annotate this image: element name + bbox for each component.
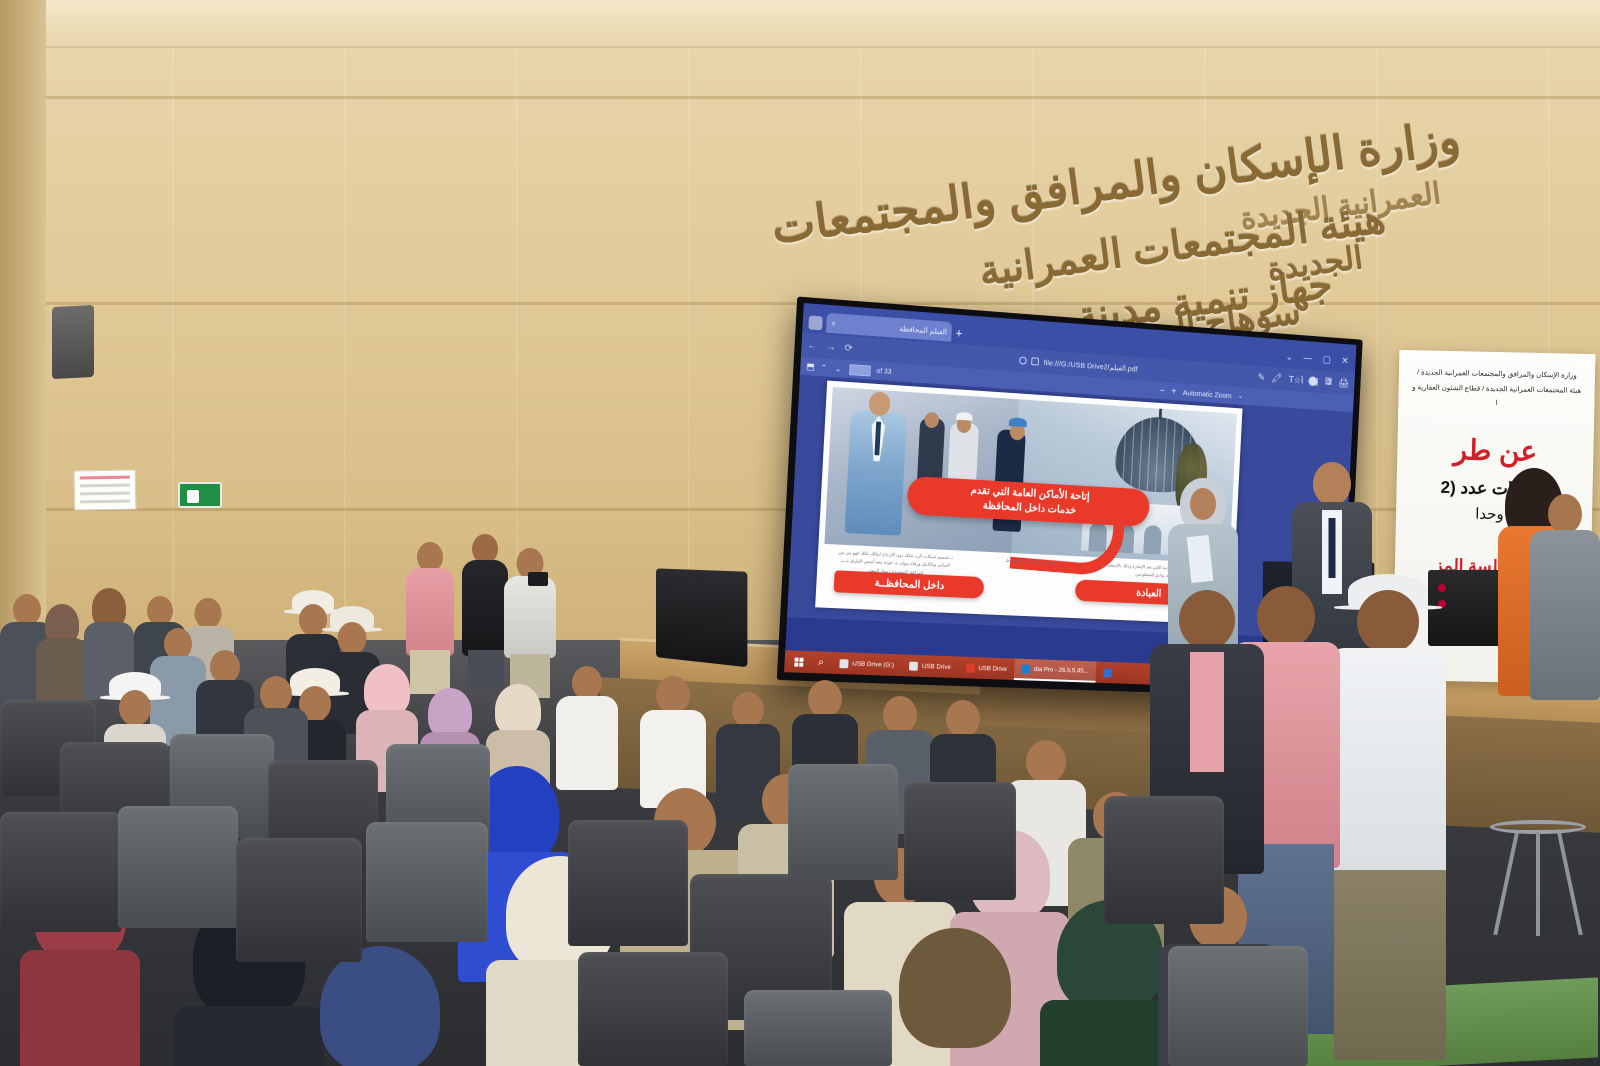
chevron-down-icon[interactable]: ⌄ (1238, 392, 1244, 400)
forward-button[interactable]: → (826, 341, 836, 353)
ceiling (0, 0, 1600, 48)
banner-header: وزارة الإسكان والمرافق والمجتمعات العمرا… (1410, 366, 1583, 414)
taskbar-item[interactable]: USB Drive (G:) (831, 652, 902, 676)
caption-column-left: تـ تصميم شبكات الربـ تبكك دون الإزعاج لم… (831, 548, 957, 603)
caption-text-left: تـ تصميم شبكات الربـ تبكك دون الإزعاج لم… (833, 548, 958, 579)
folder-icon (966, 663, 975, 672)
close-button[interactable]: ✕ (1341, 356, 1349, 367)
app-icon (1022, 664, 1031, 673)
page-total-label: of 33 (876, 368, 891, 376)
auditorium-scene: وزارة الإسكان والمرافق والمجتمعات العمرا… (0, 0, 1600, 1066)
man-with-camera (504, 548, 556, 698)
zoom-in-button[interactable]: + (1171, 386, 1177, 397)
folder-icon (839, 659, 848, 668)
taskbar-item-label: USB Drive (978, 665, 1007, 673)
new-tab-button[interactable]: + (955, 327, 963, 339)
sidebar-toggle-icon[interactable]: ⬒ (806, 361, 815, 373)
zoom-out-button[interactable]: − (1159, 385, 1165, 396)
exit-sign-icon (178, 482, 222, 508)
audience-member (640, 676, 706, 804)
taskbar-item-label: USB Drive (G:) (852, 660, 894, 668)
search-icon[interactable]: ⌕ (810, 656, 832, 670)
seat (904, 782, 1016, 900)
man-grey-suit-far-right (1530, 494, 1600, 694)
start-button[interactable] (786, 657, 810, 667)
seat (366, 822, 488, 942)
edge-icon (1103, 668, 1112, 677)
taskbar-item[interactable]: USB Drive (901, 654, 959, 678)
tab-actions-chevron-icon[interactable]: ⌄ (1285, 352, 1293, 363)
taskbar-item[interactable] (1095, 662, 1123, 684)
maximize-button[interactable]: ▢ (1322, 355, 1331, 366)
audience-member (36, 604, 88, 708)
wall-notice (74, 469, 137, 510)
erase-icon[interactable]: ⌇ (1300, 376, 1305, 387)
page-number-input[interactable] (849, 364, 871, 376)
address-value: file:///G:/USB Drive2/الفيلم.pdf (1044, 358, 1138, 373)
tab-close-icon[interactable]: × (831, 319, 836, 328)
tripod-stand (1490, 820, 1586, 936)
tab-actions-icon[interactable] (808, 315, 822, 330)
prev-page-icon[interactable]: ⌃ (820, 363, 829, 373)
next-page-icon[interactable]: ⌄ (835, 364, 844, 374)
tab-title: الفيلم المحافظة (899, 324, 947, 336)
permissions-icon (1019, 356, 1027, 364)
taskbar-item[interactable]: USB Drive (958, 657, 1015, 680)
save-icon[interactable]: 🖫 (1324, 375, 1332, 391)
text-icon[interactable]: T (1288, 375, 1294, 386)
seat (744, 990, 892, 1066)
camera-icon (528, 572, 548, 586)
seat (118, 806, 238, 928)
file-icon (1031, 357, 1039, 365)
caption-text-mid: ةـتسمتد ـة والبدار ـ المخططـ (971, 555, 1091, 569)
back-button[interactable]: ← (807, 340, 817, 352)
seat (0, 812, 122, 932)
photographer-black (462, 534, 508, 684)
seat (568, 820, 688, 946)
highlight-icon[interactable]: 🖍 (1271, 374, 1283, 385)
taskbar-item-label: USB Drive (922, 663, 951, 671)
seat (1104, 796, 1224, 924)
note-icon[interactable]: ▤ (1310, 376, 1319, 387)
white-cap-icon (956, 412, 973, 421)
audience-member-front (880, 928, 1030, 1066)
blue-cap-icon (1009, 417, 1027, 427)
zoom-level-select[interactable]: Automatic Zoom (1183, 388, 1232, 400)
taskbar-item-label: dia Pro - 26.5.5.45... (1034, 666, 1089, 675)
folder-icon (909, 661, 918, 670)
wall-speaker (52, 305, 94, 379)
minimize-button[interactable]: — (1303, 353, 1312, 364)
seat (578, 952, 728, 1066)
seat (788, 764, 898, 880)
floor-monitor-speaker (656, 568, 747, 667)
man-white-cap-foreground (1330, 570, 1446, 1040)
person-in-suit (844, 410, 907, 536)
draw-icon[interactable]: ✎ (1257, 373, 1265, 384)
caption-column-mid: ةـتسمتد ـة والبدار ـ المخططـ (968, 555, 1091, 609)
taskbar-item-active[interactable]: dia Pro - 26.5.5.45... (1014, 659, 1097, 683)
banner-red-title: عن طر (1409, 432, 1582, 469)
reload-button[interactable]: ⟳ (844, 342, 853, 353)
seat (236, 838, 362, 962)
seat (1168, 946, 1308, 1066)
print-icon[interactable]: 🖨 (1338, 378, 1350, 389)
windows-logo-icon (794, 657, 803, 666)
audience-member-front (300, 946, 460, 1066)
wall-band (0, 96, 1600, 99)
